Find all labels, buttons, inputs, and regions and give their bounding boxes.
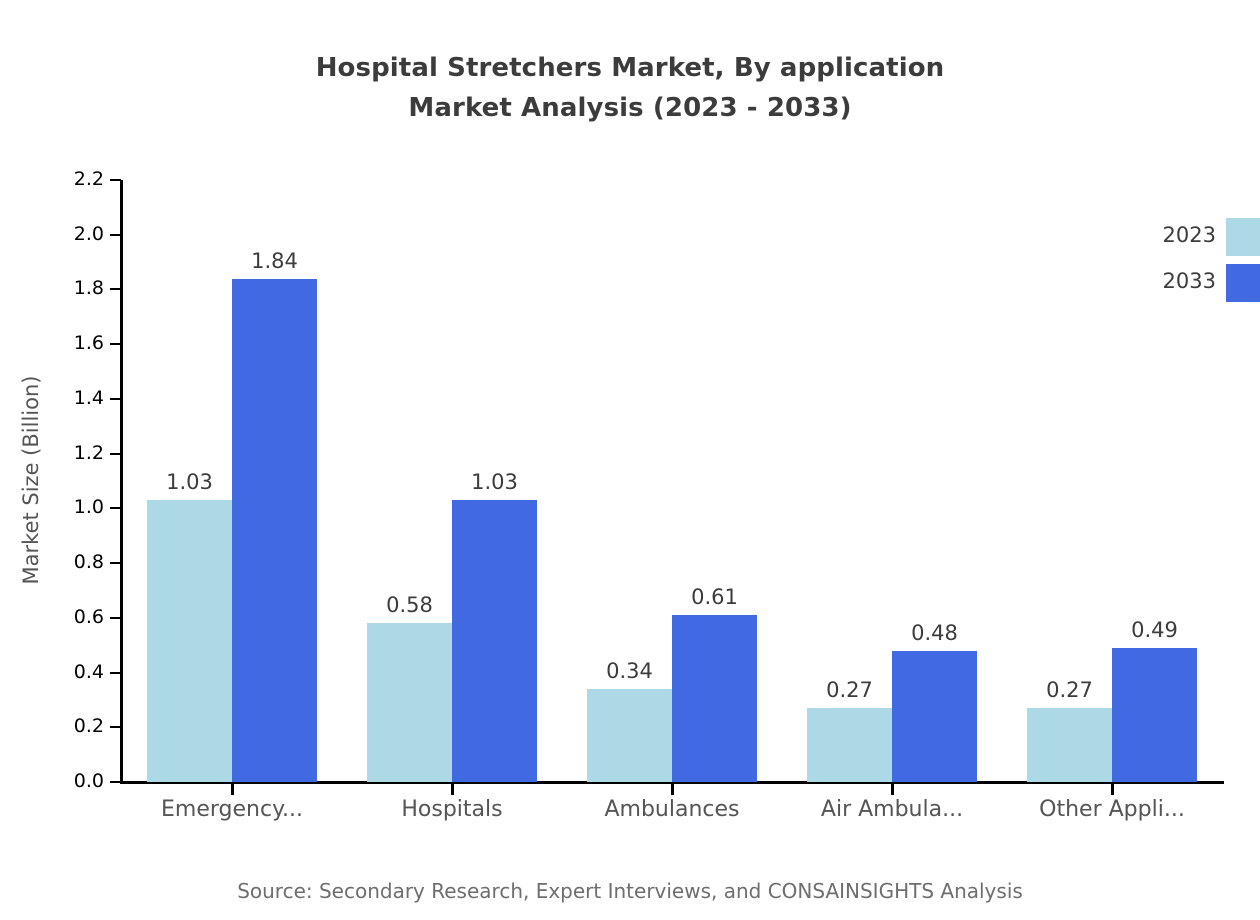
- bar-value-label: 1.03: [435, 470, 555, 494]
- y-tick-label: 0.2: [42, 717, 104, 736]
- y-tick-label: 2.0: [42, 225, 104, 244]
- bar-2023-3[interactable]: [587, 689, 672, 782]
- y-tick-label-text: 0.4: [48, 663, 104, 682]
- y-tick-label: 0.0: [42, 772, 104, 791]
- y-tick-mark: [110, 562, 121, 564]
- y-tick-label-text: 2.0: [48, 225, 104, 244]
- bar-value-label: 1.84: [215, 249, 335, 273]
- y-tick-mark: [110, 781, 121, 783]
- bar-2023-1[interactable]: [147, 500, 232, 782]
- x-tick-label: Hospitals: [332, 795, 572, 825]
- bar-2023-4[interactable]: [807, 708, 892, 782]
- y-tick-mark: [110, 617, 121, 619]
- x-tick-label: Other Appli...: [992, 795, 1232, 825]
- legend-label: 2023: [1130, 216, 1216, 254]
- y-tick-mark: [110, 234, 121, 236]
- y-tick-mark: [110, 288, 121, 290]
- y-tick-label: 0.4: [42, 663, 104, 682]
- y-tick-mark: [110, 453, 121, 455]
- x-tick-mark: [671, 783, 674, 795]
- x-tick-mark: [231, 783, 234, 795]
- y-tick-mark: [110, 672, 121, 674]
- y-tick-label-text: 0.0: [48, 772, 104, 791]
- bar-2033-3[interactable]: [672, 615, 757, 782]
- bar-value-label: 0.61: [655, 585, 775, 609]
- y-tick-label-text: 1.0: [48, 498, 104, 517]
- y-tick-label: 1.2: [42, 444, 104, 463]
- bar-2033-5[interactable]: [1112, 648, 1197, 782]
- bar-2033-1[interactable]: [232, 279, 317, 782]
- bar-value-label: 0.49: [1095, 618, 1215, 642]
- x-tick-mark: [1111, 783, 1114, 795]
- y-tick-label-text: 2.2: [48, 170, 104, 189]
- y-tick-label: 1.8: [42, 279, 104, 298]
- x-tick-label: Ambulances: [552, 795, 792, 825]
- y-tick-mark: [110, 726, 121, 728]
- y-tick-label-text: 1.6: [48, 334, 104, 353]
- y-tick-label: 1.0: [42, 498, 104, 517]
- y-tick-label: 2.2: [42, 170, 104, 189]
- legend-item-2033[interactable]: 2033: [1130, 262, 1260, 304]
- chart-figure: Hospital Stretchers Market, By applicati…: [0, 0, 1260, 920]
- y-tick-label: 0.6: [42, 608, 104, 627]
- y-tick-label: 0.8: [42, 553, 104, 572]
- x-tick-mark: [891, 783, 894, 795]
- y-tick-mark: [110, 398, 121, 400]
- y-tick-mark: [110, 507, 121, 509]
- chart-legend: 20232033: [1130, 216, 1260, 308]
- chart-title-line-1: Hospital Stretchers Market, By applicati…: [0, 48, 1260, 88]
- y-axis-title: Market Size (Billion): [14, 170, 48, 790]
- plot-area: 1.031.840.581.030.340.610.270.480.270.49: [122, 180, 1222, 782]
- chart-title: Hospital Stretchers Market, By applicati…: [0, 48, 1260, 128]
- bar-2033-2[interactable]: [452, 500, 537, 782]
- y-tick-label-text: 1.8: [48, 279, 104, 298]
- y-tick-mark: [110, 343, 121, 345]
- y-tick-label: 1.6: [42, 334, 104, 353]
- bar-value-label: 0.48: [875, 621, 995, 645]
- y-tick-label-text: 0.2: [48, 717, 104, 736]
- legend-label: 2033: [1130, 262, 1216, 300]
- y-tick-label-text: 1.4: [48, 389, 104, 408]
- source-note: Source: Secondary Research, Expert Inter…: [0, 876, 1260, 906]
- y-tick-label-text: 1.2: [48, 444, 104, 463]
- legend-swatch-2023: [1226, 218, 1260, 256]
- bar-2033-4[interactable]: [892, 651, 977, 782]
- y-tick-label: 1.4: [42, 389, 104, 408]
- x-tick-label: Air Ambula...: [772, 795, 1012, 825]
- bar-2023-5[interactable]: [1027, 708, 1112, 782]
- legend-swatch-2033: [1226, 264, 1260, 302]
- y-tick-label-text: 0.8: [48, 553, 104, 572]
- y-tick-mark: [110, 179, 121, 181]
- bar-2023-2[interactable]: [367, 623, 452, 782]
- x-tick-label: Emergency...: [112, 795, 352, 825]
- x-tick-mark: [451, 783, 454, 795]
- y-tick-label-text: 0.6: [48, 608, 104, 627]
- legend-item-2023[interactable]: 2023: [1130, 216, 1260, 258]
- chart-title-line-2: Market Analysis (2023 - 2033): [0, 88, 1260, 128]
